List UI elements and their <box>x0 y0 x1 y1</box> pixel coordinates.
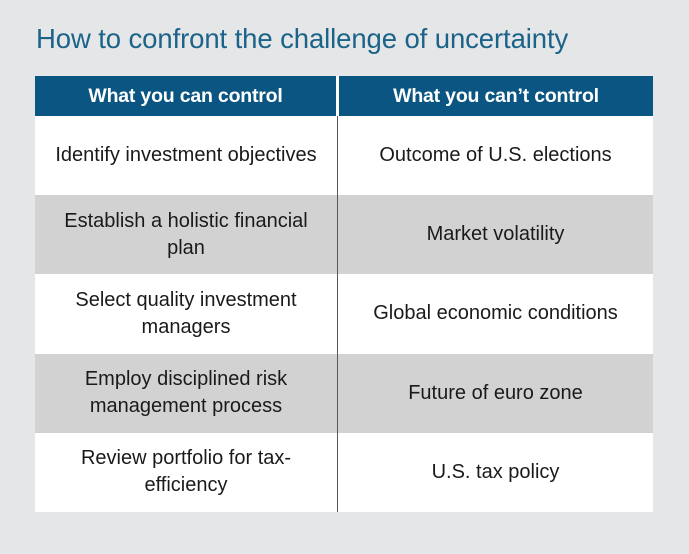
table-row: Establish a holistic financial plan Mark… <box>35 195 653 274</box>
column-header-can-control: What you can control <box>35 76 336 116</box>
cell-cannot-control: Outcome of U.S. elections <box>338 116 653 195</box>
table-header-row: What you can control What you can’t cont… <box>35 76 653 116</box>
cell-can-control: Employ disciplined risk management proce… <box>35 354 337 433</box>
column-header-cannot-control: What you can’t control <box>339 76 653 116</box>
table-row: Select quality investment managers Globa… <box>35 274 653 353</box>
cell-can-control: Establish a holistic financial plan <box>35 195 337 274</box>
table-row: Review portfolio for tax-efficiency U.S.… <box>35 433 653 512</box>
slide-canvas: How to confront the challenge of uncerta… <box>0 0 689 554</box>
cell-cannot-control: U.S. tax policy <box>338 433 653 512</box>
cell-can-control: Review portfolio for tax-efficiency <box>35 433 337 512</box>
cell-cannot-control: Global economic conditions <box>338 274 653 353</box>
table-row: Employ disciplined risk management proce… <box>35 354 653 433</box>
page-title: How to confront the challenge of uncerta… <box>36 22 656 56</box>
cell-can-control: Identify investment objectives <box>35 116 337 195</box>
cell-cannot-control: Market volatility <box>338 195 653 274</box>
cell-can-control: Select quality investment managers <box>35 274 337 353</box>
comparison-table: What you can control What you can’t cont… <box>35 76 653 512</box>
cell-cannot-control: Future of euro zone <box>338 354 653 433</box>
table-row: Identify investment objectives Outcome o… <box>35 116 653 195</box>
